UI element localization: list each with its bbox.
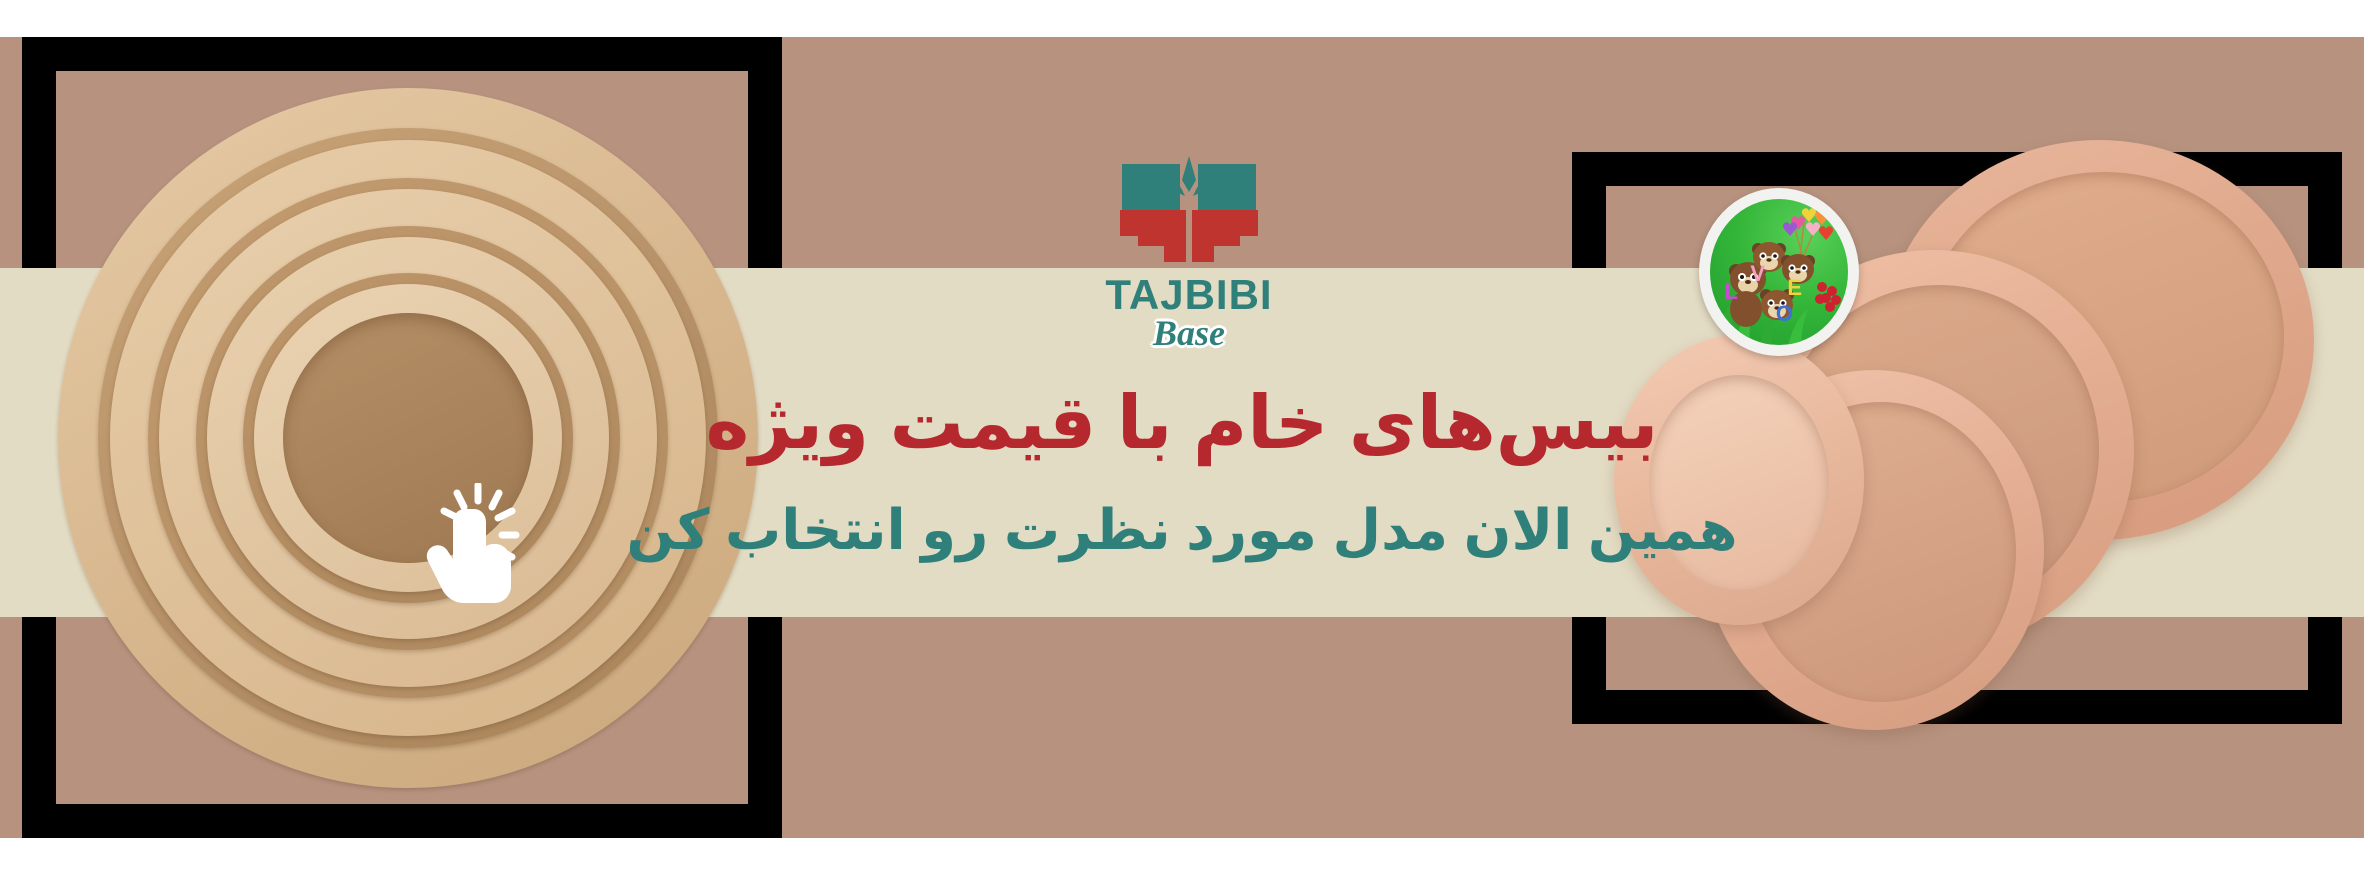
background-band-white-bottom <box>0 838 2364 876</box>
letter-L: L <box>1725 279 1738 304</box>
bracket-bottom-rail <box>22 804 782 838</box>
bracket-top-rail <box>22 37 782 71</box>
teddy-bear-cake-badge[interactable]: L O V E <box>1699 188 1859 356</box>
promo-banner[interactable]: L O V E TAJBI <box>0 0 2364 876</box>
butterfly-emblem-icon <box>1104 150 1274 270</box>
right-bracket-top-rail <box>1572 152 2342 186</box>
berries-icon <box>1815 282 1841 312</box>
letter-E: E <box>1787 275 1802 300</box>
cake-surface: L O V E <box>1710 199 1848 345</box>
brand-logo[interactable]: TAJBIBI Base <box>1104 150 1274 380</box>
right-bracket-bottom-rail <box>1572 690 2342 724</box>
cake-artwork: L O V E <box>1710 199 1848 345</box>
background-band-white-top <box>0 0 2364 37</box>
subheadline-text: همین الان مدل مورد نظرت رو انتخاب کن <box>0 495 2364 565</box>
logo-subword: Base <box>1104 314 1274 352</box>
letter-O: O <box>1776 301 1793 326</box>
headline-text: بیس‌های خام با قیمت ویژه <box>0 380 2364 466</box>
letter-V: V <box>1750 261 1765 286</box>
balloons-icon <box>1783 208 1833 255</box>
logo-wordmark: TAJBIBI <box>1104 272 1274 318</box>
